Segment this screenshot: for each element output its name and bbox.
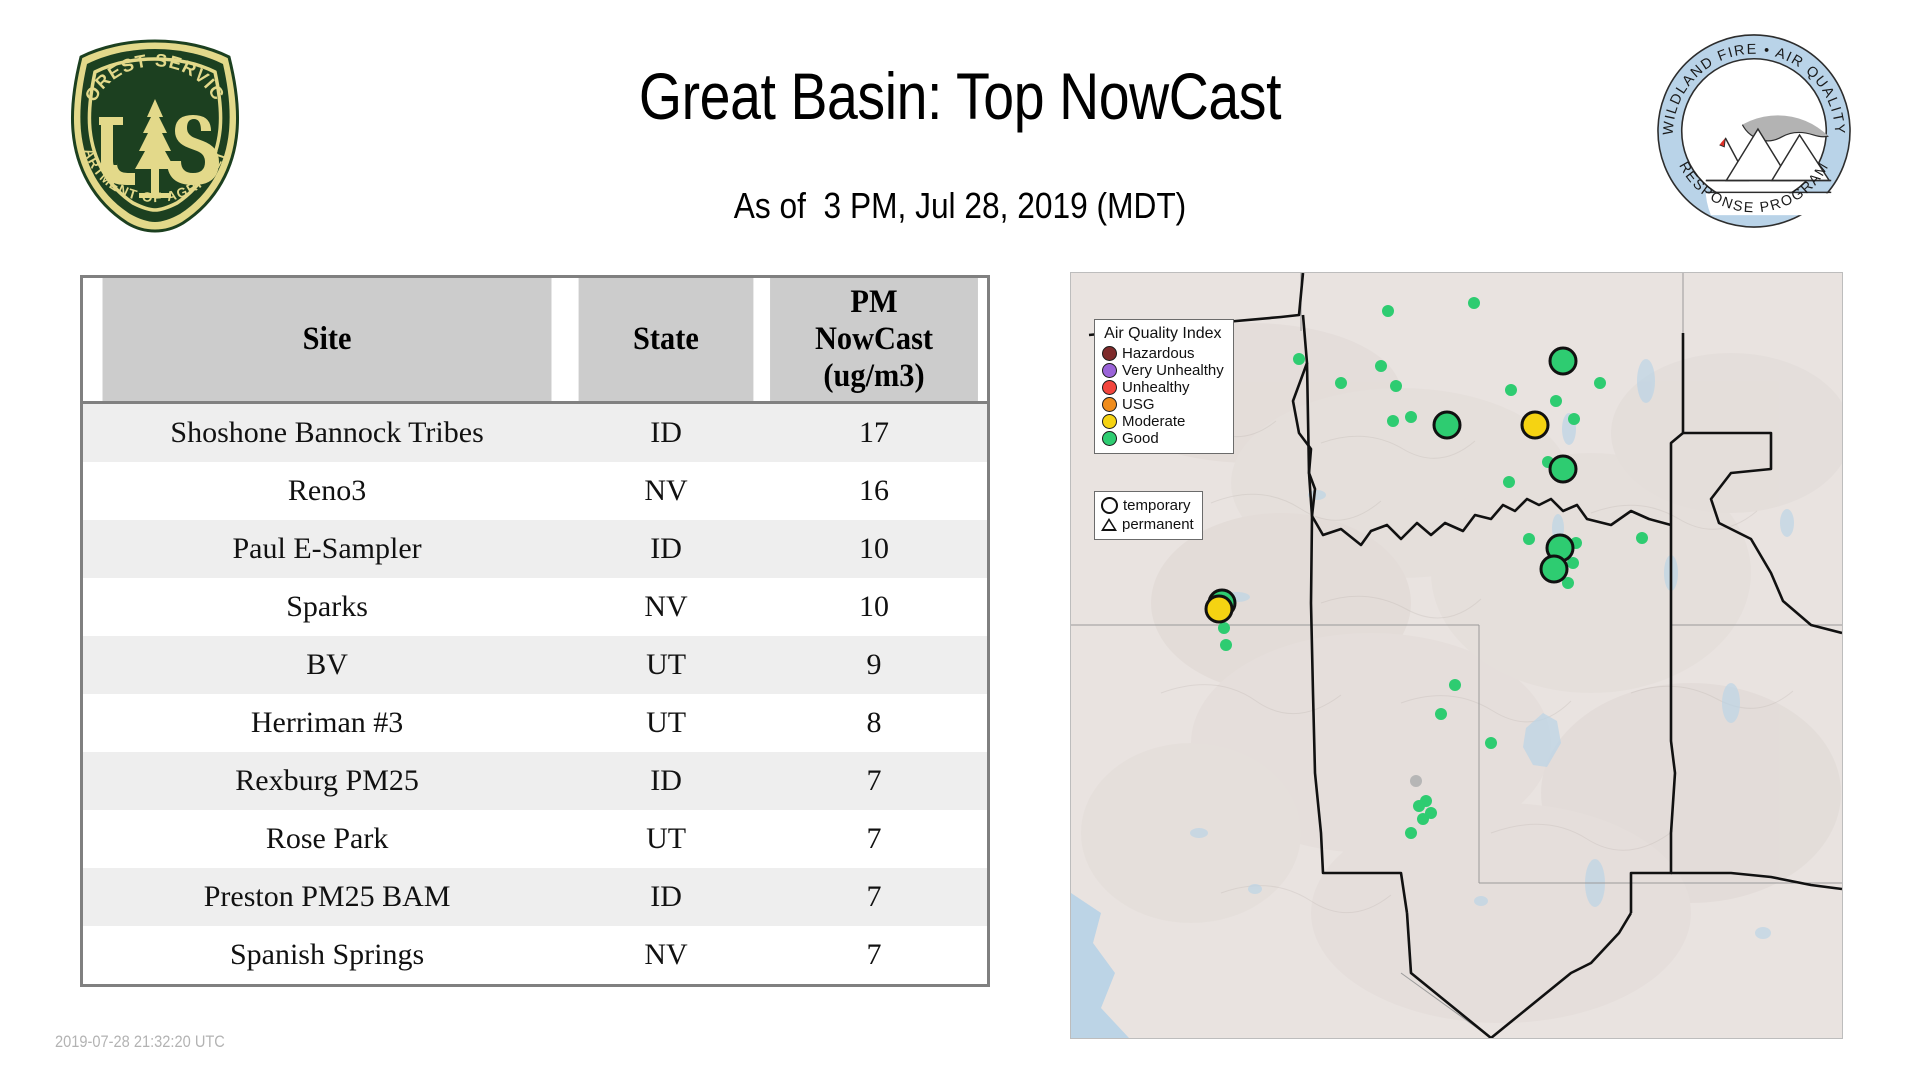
site-cell: Sparks	[83, 578, 571, 636]
legend-label-permanent: permanent	[1122, 517, 1194, 532]
monitor-dot-small[interactable]	[1335, 377, 1347, 389]
circle-icon	[1101, 497, 1118, 514]
site-cell: Reno3	[83, 462, 571, 520]
aqi-legend-row: Good	[1102, 430, 1224, 447]
table-row: Reno3NV16	[83, 462, 987, 520]
monitor-dot-small[interactable]	[1390, 380, 1402, 392]
table-row: Paul E-SamplerID10	[83, 520, 987, 578]
page-title: Great Basin: Top NowCast	[372, 58, 1548, 134]
table-row: Spanish SpringsNV7	[83, 926, 987, 984]
pm-cell: 7	[761, 810, 987, 868]
site-cell: Rexburg PM25	[83, 752, 571, 810]
aqi-legend-row: Hazardous	[1102, 345, 1224, 362]
monitor-type-legend: temporary permanent	[1094, 491, 1203, 540]
monitor-marker-moderate[interactable]	[1522, 412, 1548, 438]
site-cell: Paul E-Sampler	[83, 520, 571, 578]
monitor-dot-small[interactable]	[1410, 775, 1422, 787]
airfire-program-logo: WILDLAND FIRE • AIR QUALITY RESPONSE PRO…	[1655, 32, 1853, 230]
aqi-legend-label: Unhealthy	[1122, 380, 1190, 395]
monitor-dot-small[interactable]	[1449, 679, 1461, 691]
monitor-dot-small[interactable]	[1485, 737, 1497, 749]
monitor-dot-small[interactable]	[1220, 639, 1232, 651]
data-table: Site State PM NowCast (ug/m3) Shoshone B…	[83, 278, 987, 984]
aqi-legend: Air Quality Index HazardousVery Unhealth…	[1094, 319, 1234, 454]
monitor-marker-good[interactable]	[1541, 556, 1567, 582]
aqi-color-swatch	[1102, 346, 1117, 361]
site-cell: Preston PM25 BAM	[83, 868, 571, 926]
monitor-dot-small[interactable]	[1417, 813, 1429, 825]
aqi-legend-label: Moderate	[1122, 414, 1185, 429]
state-cell: UT	[571, 694, 761, 752]
usfs-shield-svg: FOREST SERVICE DEPARTMENT OF AGRICULTURE	[55, 35, 255, 235]
monitor-dot-small[interactable]	[1523, 533, 1535, 545]
monitor-dot-small[interactable]	[1405, 827, 1417, 839]
page-subtitle: As of 3 PM, Jul 28, 2019 (MDT)	[344, 185, 1576, 227]
monitor-dot-small[interactable]	[1293, 353, 1305, 365]
aqi-legend-label: Hazardous	[1122, 346, 1195, 361]
column-header-state: State	[579, 278, 754, 402]
pm-cell: 7	[761, 868, 987, 926]
monitor-dot-small[interactable]	[1505, 384, 1517, 396]
monitor-marker-good[interactable]	[1550, 456, 1576, 482]
monitor-dot-small[interactable]	[1568, 413, 1580, 425]
pm-cell: 9	[761, 636, 987, 694]
table-row: Rose ParkUT7	[83, 810, 987, 868]
legend-row-temporary: temporary	[1101, 496, 1194, 515]
monitor-dot-small[interactable]	[1550, 395, 1562, 407]
pm-cell: 16	[761, 462, 987, 520]
site-cell: Herriman #3	[83, 694, 571, 752]
aqi-legend-title: Air Quality Index	[1102, 325, 1224, 343]
table-row: Shoshone Bannock TribesID17	[83, 402, 987, 462]
monitor-dot-small[interactable]	[1218, 622, 1230, 634]
air-quality-map[interactable]: Air Quality Index HazardousVery Unhealth…	[1070, 272, 1843, 1039]
pm-cell: 10	[761, 520, 987, 578]
site-cell: Spanish Springs	[83, 926, 571, 984]
aqi-legend-row: Unhealthy	[1102, 379, 1224, 396]
monitor-dot-small[interactable]	[1387, 415, 1399, 427]
monitor-dot-small[interactable]	[1594, 377, 1606, 389]
monitor-marker-good[interactable]	[1434, 412, 1460, 438]
table-body: Shoshone Bannock TribesID17Reno3NV16Paul…	[83, 402, 987, 984]
state-cell: UT	[571, 636, 761, 694]
aqi-color-swatch	[1102, 414, 1117, 429]
table-row: SparksNV10	[83, 578, 987, 636]
table-row: Preston PM25 BAMID7	[83, 868, 987, 926]
state-cell: NV	[571, 578, 761, 636]
column-header-site: Site	[103, 278, 552, 402]
aqi-legend-label: USG	[1122, 397, 1155, 412]
monitor-dot-small[interactable]	[1503, 476, 1515, 488]
table-row: BVUT9	[83, 636, 987, 694]
pm-cell: 7	[761, 926, 987, 984]
monitor-dot-small[interactable]	[1413, 800, 1425, 812]
aqi-color-swatch	[1102, 397, 1117, 412]
triangle-icon	[1101, 518, 1117, 531]
aqi-legend-label: Good	[1122, 431, 1159, 446]
state-cell: ID	[571, 868, 761, 926]
aqi-legend-rows: HazardousVery UnhealthyUnhealthyUSGModer…	[1102, 345, 1224, 447]
state-cell: ID	[571, 752, 761, 810]
pm-cell: 7	[761, 752, 987, 810]
site-cell: Shoshone Bannock Tribes	[83, 402, 571, 462]
aqi-color-swatch	[1102, 363, 1117, 378]
aqi-color-swatch	[1102, 380, 1117, 395]
state-cell: ID	[571, 402, 761, 462]
monitor-dot-small[interactable]	[1382, 305, 1394, 317]
column-header-pm-nowcast: PM NowCast (ug/m3)	[770, 278, 978, 402]
aqi-legend-row: Very Unhealthy	[1102, 362, 1224, 379]
table-head: Site State PM NowCast (ug/m3)	[83, 278, 987, 402]
site-cell: Rose Park	[83, 810, 571, 868]
aqi-color-swatch	[1102, 431, 1117, 446]
table-row: Herriman #3UT8	[83, 694, 987, 752]
monitor-dot-small[interactable]	[1375, 360, 1387, 372]
aqi-legend-row: Moderate	[1102, 413, 1224, 430]
monitor-dot-small[interactable]	[1405, 411, 1417, 423]
state-cell: NV	[571, 926, 761, 984]
aqi-legend-label: Very Unhealthy	[1122, 363, 1224, 378]
monitor-dot-small[interactable]	[1435, 708, 1447, 720]
table-row: Rexburg PM25ID7	[83, 752, 987, 810]
generated-timestamp: 2019-07-28 21:32:20 UTC	[55, 1032, 225, 1052]
monitor-marker-good[interactable]	[1550, 348, 1576, 374]
pm-cell: 8	[761, 694, 987, 752]
aqi-legend-row: USG	[1102, 396, 1224, 413]
monitor-dot-small[interactable]	[1636, 532, 1648, 544]
state-cell: NV	[571, 462, 761, 520]
pm-cell: 10	[761, 578, 987, 636]
usfs-shield-logo: FOREST SERVICE DEPARTMENT OF AGRICULTURE	[55, 35, 255, 235]
top-nowcast-table: Site State PM NowCast (ug/m3) Shoshone B…	[80, 275, 990, 987]
legend-label-temporary: temporary	[1123, 498, 1191, 513]
site-cell: BV	[83, 636, 571, 694]
airfire-logo-svg: WILDLAND FIRE • AIR QUALITY RESPONSE PRO…	[1655, 32, 1853, 230]
monitor-marker-moderate[interactable]	[1206, 596, 1232, 622]
state-cell: ID	[571, 520, 761, 578]
monitor-dot-small[interactable]	[1468, 297, 1480, 309]
state-cell: UT	[571, 810, 761, 868]
table-header-row: Site State PM NowCast (ug/m3)	[83, 278, 987, 402]
pm-cell: 17	[761, 402, 987, 462]
legend-row-permanent: permanent	[1101, 515, 1194, 534]
